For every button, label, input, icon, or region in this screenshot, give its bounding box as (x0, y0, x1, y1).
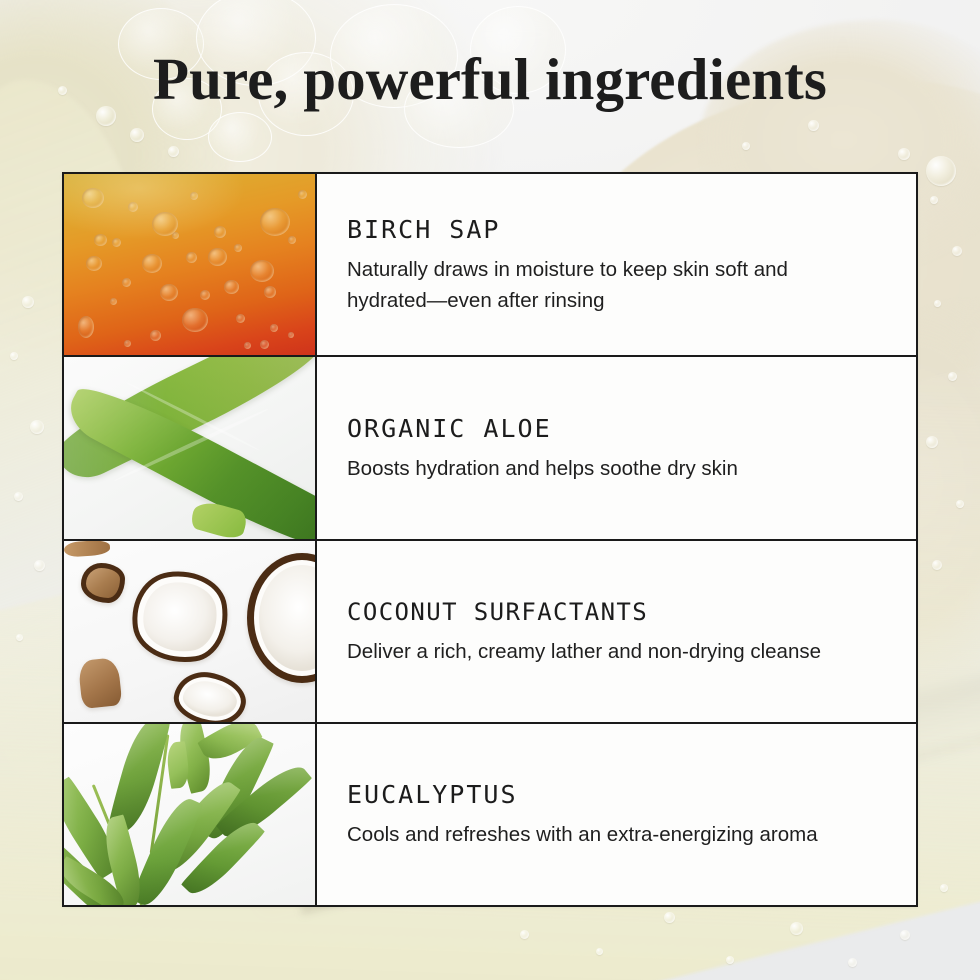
liquid-droplet (948, 372, 957, 381)
liquid-droplet (808, 120, 819, 131)
ingredient-text-cell: ORGANIC ALOE Boosts hydration and helps … (317, 357, 916, 538)
liquid-droplet (926, 436, 938, 448)
ingredient-text-cell: EUCALYPTUS Cools and refreshes with an e… (317, 724, 916, 905)
liquid-droplet (130, 128, 144, 142)
organic-aloe-image-art (64, 357, 315, 538)
coconut-pieces-photo (64, 541, 317, 722)
liquid-droplet (956, 500, 964, 508)
liquid-droplet (932, 560, 942, 570)
liquid-droplet (952, 246, 962, 256)
organic-aloe-leaves-photo (64, 357, 317, 538)
ingredient-name: BIRCH SAP (347, 213, 890, 247)
liquid-droplet (940, 884, 948, 892)
liquid-droplet (34, 560, 45, 571)
coconut-piece (170, 667, 250, 722)
liquid-droplet (596, 948, 603, 955)
birch-sap-amber-bubbles-photo (64, 174, 317, 355)
liquid-droplet (790, 922, 803, 935)
ingredient-description: Deliver a rich, creamy lather and non-dr… (347, 636, 890, 667)
liquid-droplet (16, 634, 23, 641)
liquid-droplet (14, 492, 23, 501)
ingredients-table: BIRCH SAP Naturally draws in moisture to… (62, 172, 918, 907)
table-row: ORGANIC ALOE Boosts hydration and helps … (64, 357, 916, 540)
liquid-droplet (10, 352, 18, 360)
liquid-droplet (520, 930, 529, 939)
liquid-droplet (926, 156, 956, 186)
eucalyptus-image-art (64, 724, 315, 905)
coconut-shell-piece (81, 563, 125, 603)
foam-bubble (208, 112, 272, 162)
liquid-droplet (168, 146, 179, 157)
coconut-husk-piece (78, 657, 123, 709)
table-row: COCONUT SURFACTANTS Deliver a rich, crea… (64, 541, 916, 724)
birch-sap-image-art (64, 174, 315, 355)
liquid-droplet (22, 296, 34, 308)
ingredient-name: EUCALYPTUS (347, 778, 890, 812)
liquid-droplet (934, 300, 941, 307)
table-row: EUCALYPTUS Cools and refreshes with an e… (64, 724, 916, 905)
table-row: BIRCH SAP Naturally draws in moisture to… (64, 174, 916, 357)
ingredient-text-cell: COCONUT SURFACTANTS Deliver a rich, crea… (317, 541, 916, 722)
ingredient-description: Cools and refreshes with an extra-energi… (347, 819, 890, 850)
coconut-half (247, 553, 317, 683)
liquid-droplet (898, 148, 910, 160)
ingredient-description: Boosts hydration and helps soothe dry sk… (347, 453, 847, 484)
ingredient-description: Naturally draws in moisture to keep skin… (347, 254, 825, 316)
liquid-droplet (664, 912, 675, 923)
coconut-husk-sliver (64, 541, 110, 558)
liquid-droplet (848, 958, 857, 967)
liquid-droplet (900, 930, 910, 940)
liquid-droplet (30, 420, 44, 434)
page-title: Pure, powerful ingredients (0, 44, 980, 114)
coconut-piece (126, 564, 234, 668)
liquid-droplet (930, 196, 938, 204)
ingredient-name: COCONUT SURFACTANTS (347, 595, 890, 629)
liquid-droplet (742, 142, 750, 150)
eucalyptus-sprig-photo (64, 724, 317, 905)
liquid-droplet (726, 956, 734, 964)
ingredient-name: ORGANIC ALOE (347, 412, 890, 446)
ingredient-text-cell: BIRCH SAP Naturally draws in moisture to… (317, 174, 916, 355)
coconut-image-art (64, 541, 315, 722)
